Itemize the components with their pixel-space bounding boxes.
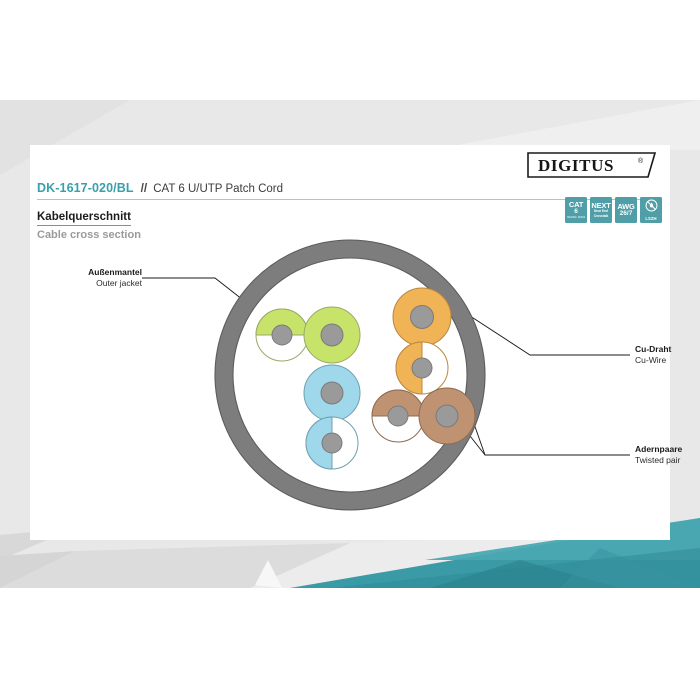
orange-wire-solid xyxy=(393,288,451,346)
callout-twisted-pair-en: Twisted pair xyxy=(635,455,682,465)
callout-outer-jacket-de: Außenmantel xyxy=(38,267,142,277)
brown-wire-solid-core xyxy=(436,405,458,427)
blue-wire-solid-core xyxy=(321,382,343,404)
callout-cu-wire-en: Cu-Wire xyxy=(635,355,671,365)
cable-cross-section-diagram xyxy=(30,145,670,540)
callout-twisted-pair-de: Adernpaare xyxy=(635,444,682,454)
callout-twisted-pair: Adernpaare Twisted pair xyxy=(635,444,682,465)
brown-wire-solid xyxy=(419,388,475,444)
brown-wire-striped-core xyxy=(388,406,408,426)
green-wire-striped xyxy=(256,309,308,361)
blue-wire-solid xyxy=(304,365,360,421)
green-wire-solid-core xyxy=(321,324,343,346)
brown-wire-striped xyxy=(372,390,424,442)
callout-cu-wire-de: Cu-Draht xyxy=(635,344,671,354)
blue-wire-striped xyxy=(306,417,358,469)
orange-wire-striped-core xyxy=(412,358,432,378)
callout-outer-jacket: Außenmantel Outer jacket xyxy=(38,267,142,288)
callout-cu-wire: Cu-Draht Cu-Wire xyxy=(635,344,671,365)
green-wire-striped-core xyxy=(272,325,292,345)
orange-wire-striped xyxy=(396,342,448,394)
product-datasheet-page: DIGITUS ® DK-1617-020/BL // CAT 6 U/UTP … xyxy=(0,0,700,700)
content-card: DIGITUS ® DK-1617-020/BL // CAT 6 U/UTP … xyxy=(30,145,670,540)
decor-top-right-light xyxy=(430,100,700,150)
orange-wire-solid-core xyxy=(411,306,434,329)
blue-wire-striped-core xyxy=(322,433,342,453)
callout-outer-jacket-en: Outer jacket xyxy=(38,278,142,288)
green-wire-solid xyxy=(304,307,360,363)
